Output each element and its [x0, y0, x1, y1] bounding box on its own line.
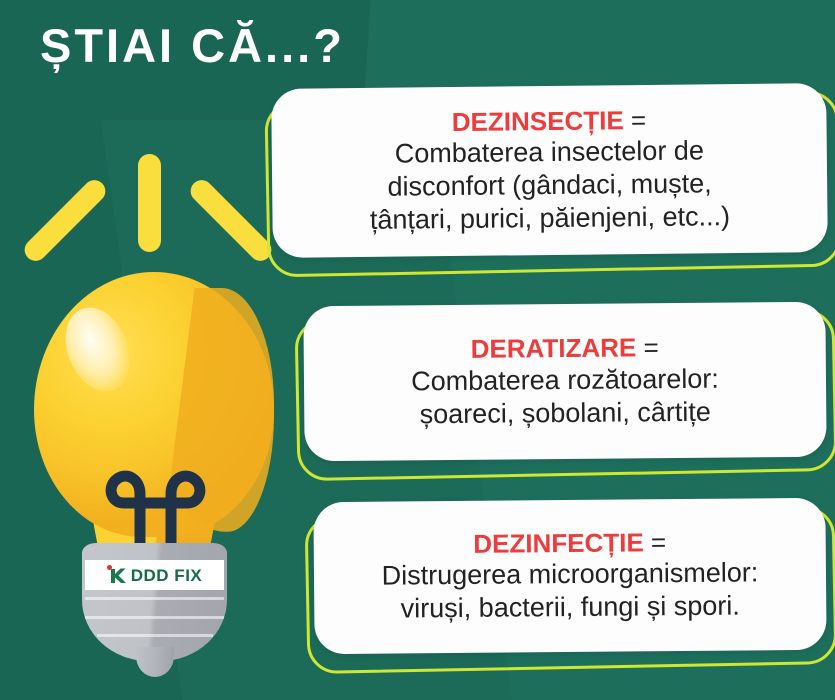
- card-line: disconfort (gândaci, muște,: [377, 168, 721, 205]
- ddd-fix-mark-icon: [107, 565, 127, 585]
- page-title: ȘTIAI CĂ...?: [40, 22, 345, 69]
- bulb-cap-ridge: [85, 616, 224, 619]
- card-term-heading: DEZINSECȚIE =: [452, 105, 647, 138]
- card-line: Distrugerea microorganismelor:: [372, 557, 769, 593]
- card-surface[interactable]: DEZINSECȚIE = Combaterea insectelor de d…: [271, 83, 828, 258]
- card-term: DERATIZARE: [471, 333, 637, 364]
- card-equals-sign: =: [643, 332, 658, 362]
- card-equals-sign: =: [651, 527, 666, 557]
- card-term-heading: DERATIZARE =: [471, 332, 659, 364]
- card-term-heading: DEZINFECȚIE =: [473, 527, 666, 559]
- card-line: Combaterea rozătoarelor:: [401, 362, 729, 398]
- bulb-screw-cap: DDD FIX: [82, 543, 227, 661]
- card-term: DEZINFECȚIE: [473, 527, 644, 558]
- card-line: viruși, bacterii, fungi și spori.: [391, 590, 750, 626]
- definition-card-dezinfectie[interactable]: DEZINFECȚIE = Distrugerea microorganisme…: [300, 495, 835, 673]
- card-line: țânțari, purici, păienjeni, etc...): [360, 200, 741, 237]
- card-line: șoareci, șobolani, cârtițe: [410, 395, 721, 431]
- infographic-poster: ȘTIAI CĂ...?: [0, 0, 835, 700]
- bulb-cap-tip: [136, 647, 174, 677]
- brand-logo: DDD FIX: [85, 560, 224, 590]
- bulb-ray-center-icon: [138, 154, 161, 252]
- definition-card-dezinsectie[interactable]: DEZINSECȚIE = Combaterea insectelor de d…: [258, 80, 835, 275]
- card-term: DEZINSECȚIE: [452, 105, 624, 137]
- card-line: Combaterea insectelor de: [385, 135, 714, 171]
- brand-name: DDD FIX: [131, 567, 203, 584]
- definition-card-deratizare[interactable]: DERATIZARE = Combaterea rozătoarelor: șo…: [290, 300, 835, 480]
- bulb-ray-left-icon: [20, 176, 110, 266]
- card-surface[interactable]: DERATIZARE = Combaterea rozătoarelor: șo…: [303, 302, 826, 462]
- bulb-cap-ridge: [97, 634, 213, 637]
- card-surface[interactable]: DEZINFECȚIE = Distrugerea microorganisme…: [313, 498, 826, 654]
- lightbulb-illustration: DDD FIX: [12, 160, 282, 685]
- bulb-cap-ridge: [85, 597, 224, 600]
- card-equals-sign: =: [631, 105, 647, 135]
